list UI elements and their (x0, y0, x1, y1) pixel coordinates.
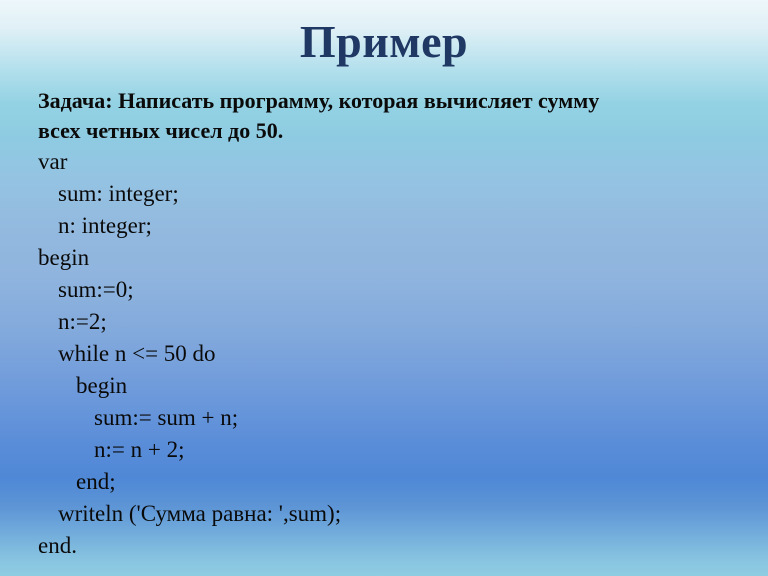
code-line: n:= n + 2; (38, 434, 738, 466)
slide-body: Задача: Написать программу, которая вычи… (38, 86, 738, 562)
code-line: sum:= sum + n; (38, 402, 738, 434)
code-line: end; (38, 466, 738, 498)
code-line: end. (38, 530, 738, 562)
code-line: writeln ('Сумма равна: ',sum); (38, 498, 738, 530)
code-line: sum:=0; (38, 274, 738, 306)
code-line: n:=2; (38, 306, 738, 338)
code-line: begin (38, 370, 738, 402)
pascal-code-block: varsum: integer;n: integer;beginsum:=0;n… (38, 146, 738, 562)
task-statement-line-1: Задача: Написать программу, которая вычи… (38, 86, 738, 116)
code-line: begin (38, 242, 738, 274)
code-line: var (38, 146, 738, 178)
page-title: Пример (0, 16, 768, 68)
code-line: sum: integer; (38, 178, 738, 210)
task-statement-line-2: всех четных чисел до 50. (38, 116, 738, 146)
slide-canvas: Пример Задача: Написать программу, котор… (0, 0, 768, 576)
code-line: n: integer; (38, 210, 738, 242)
code-line: while n <= 50 do (38, 338, 738, 370)
